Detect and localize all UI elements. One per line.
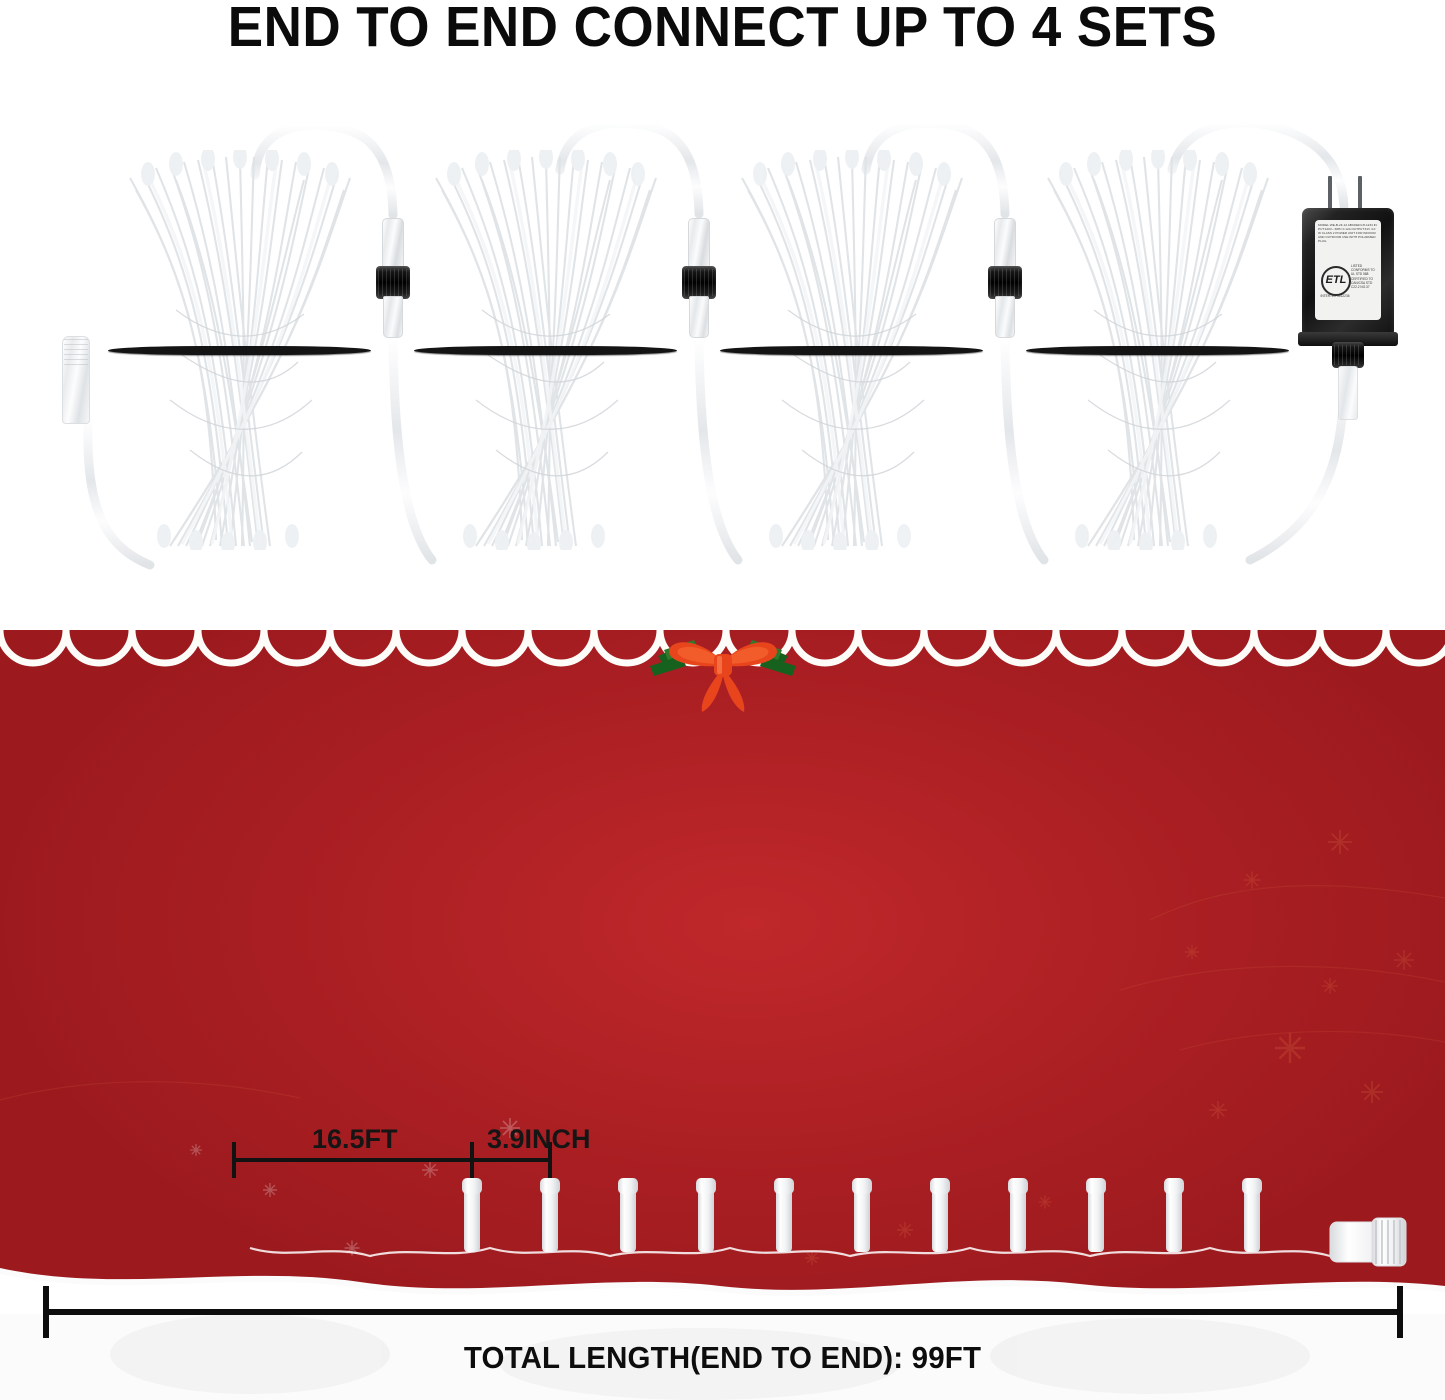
- black-screw-cap: [988, 266, 1022, 299]
- power-adapter: MODEL:WE-B-2F-12 ABCDEFGH-1234 INPUT:120…: [1302, 208, 1394, 373]
- zip-tie: [1026, 346, 1289, 355]
- plug-prong-left: [1328, 176, 1332, 210]
- screw-cap-connector-1: [376, 218, 410, 338]
- zip-tie: [414, 346, 677, 355]
- zip-tie: [108, 346, 371, 355]
- lead-length-label: 16.5FT: [312, 1124, 398, 1154]
- adapter-label-text: MODEL:WE-B-2F-12 ABCDEFGH-1234 INPUT:120…: [1318, 223, 1378, 243]
- product-infographic: END TO END CONNECT UP TO 4 SETS: [0, 0, 1445, 1400]
- plug-prong-right: [1358, 176, 1362, 210]
- adapter-label: MODEL:WE-B-2F-12 ABCDEFGH-1234 INPUT:120…: [1315, 220, 1381, 320]
- etl-mark-icon: ETL: [1321, 266, 1351, 296]
- female-end-connector: [62, 336, 90, 424]
- screw-cap-connector-3: [988, 218, 1022, 338]
- zip-tie: [720, 346, 983, 355]
- black-screw-cap: [376, 266, 410, 299]
- christmas-bow-decoration: [640, 630, 806, 718]
- etl-right-text: LISTED CONFORMS TO UL STD 588 CERTIFIED …: [1351, 264, 1378, 289]
- light-set-3: [724, 150, 979, 560]
- light-set-1: [112, 150, 367, 560]
- etl-sublabel: INTERTEK 5012236: [1319, 294, 1351, 298]
- total-length-label: TOTAL LENGTH(END TO END): 99FT: [36, 1340, 1409, 1376]
- total-length-bracket: [0, 1282, 1445, 1346]
- snow-ground: [0, 1268, 1445, 1400]
- top-panel: END TO END CONNECT UP TO 4 SETS: [0, 0, 1445, 630]
- black-screw-cap: [682, 266, 716, 299]
- light-set-2: [418, 150, 673, 560]
- adapter-screw-cap: [1332, 342, 1364, 368]
- bulb-spacing-label: 3.9INCH: [487, 1124, 591, 1154]
- adapter-output-connector: [1338, 366, 1358, 420]
- light-set-4: [1030, 150, 1285, 560]
- screw-cap-connector-2: [682, 218, 716, 338]
